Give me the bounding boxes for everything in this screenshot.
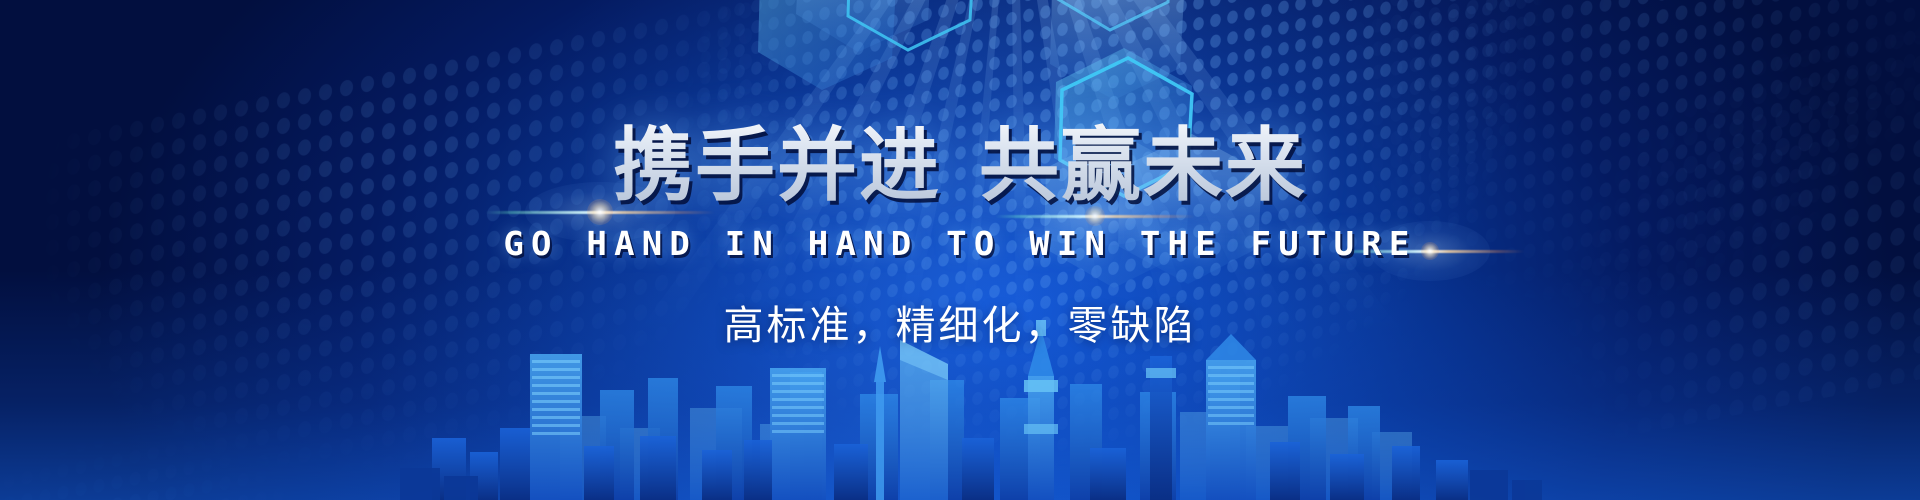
promo-banner: 携手并进共赢未来 GO HAND IN HAND TO WIN THE FUTU… [0, 0, 1920, 500]
headline-left: 携手并进 [613, 121, 941, 210]
page-title: 携手并进共赢未来 [0, 0, 1920, 206]
subtitle-english: GO HAND IN HAND TO WIN THE FUTURE [0, 224, 1920, 263]
banner-text-block: 携手并进共赢未来 GO HAND IN HAND TO WIN THE FUTU… [0, 0, 1920, 351]
tagline: 高标准，精细化，零缺陷 [0, 293, 1920, 351]
headline-right: 共赢未来 [979, 121, 1307, 210]
